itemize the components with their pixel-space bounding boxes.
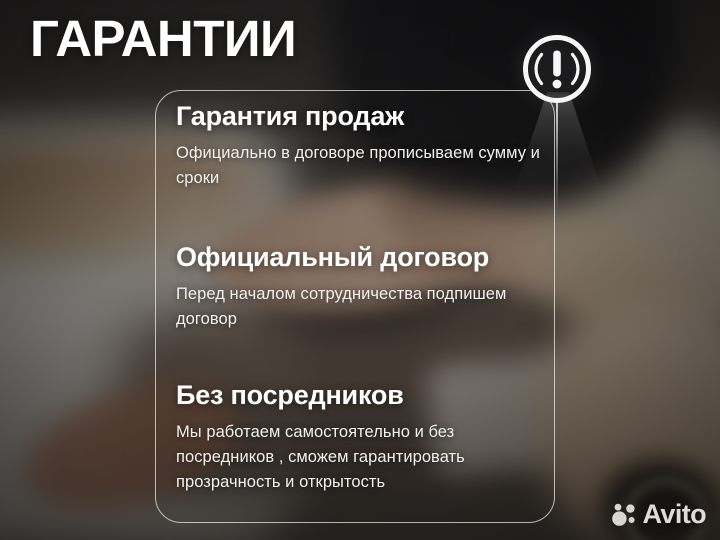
guarantees-card: Гарантия продаж Официально в договоре пр… — [155, 90, 555, 523]
page-title: ГАРАНТИИ — [30, 12, 296, 66]
avito-dots-logo — [611, 502, 637, 528]
guarantee-heading-2: Официальный договор — [176, 242, 540, 274]
block-spacer-1 — [176, 195, 540, 242]
guarantee-text-2: Перед началом сотрудничества подпишем до… — [176, 282, 540, 332]
guarantee-text-3: Мы работаем самостоятельно и без посредн… — [176, 420, 540, 495]
avito-watermark: Avito — [611, 501, 707, 528]
guarantee-heading-1: Гарантия продаж — [176, 101, 540, 133]
block-spacer-2 — [176, 336, 540, 380]
guarantee-block-3: Без посредников Мы работаем самостоятель… — [176, 380, 540, 495]
guarantee-block-1: Гарантия продаж Официально в договоре пр… — [176, 101, 540, 191]
icon-stem-line — [556, 100, 558, 212]
guarantee-heading-3: Без посредников — [176, 380, 540, 412]
guarantee-text-1: Официально в договоре прописываем сумму … — [176, 141, 540, 191]
promo-banner: ГАРАНТИИ Гарантия продаж Официально в до… — [0, 0, 720, 540]
avito-label: Avito — [643, 501, 707, 528]
guarantee-block-2: Официальный договор Перед началом сотруд… — [176, 242, 540, 332]
